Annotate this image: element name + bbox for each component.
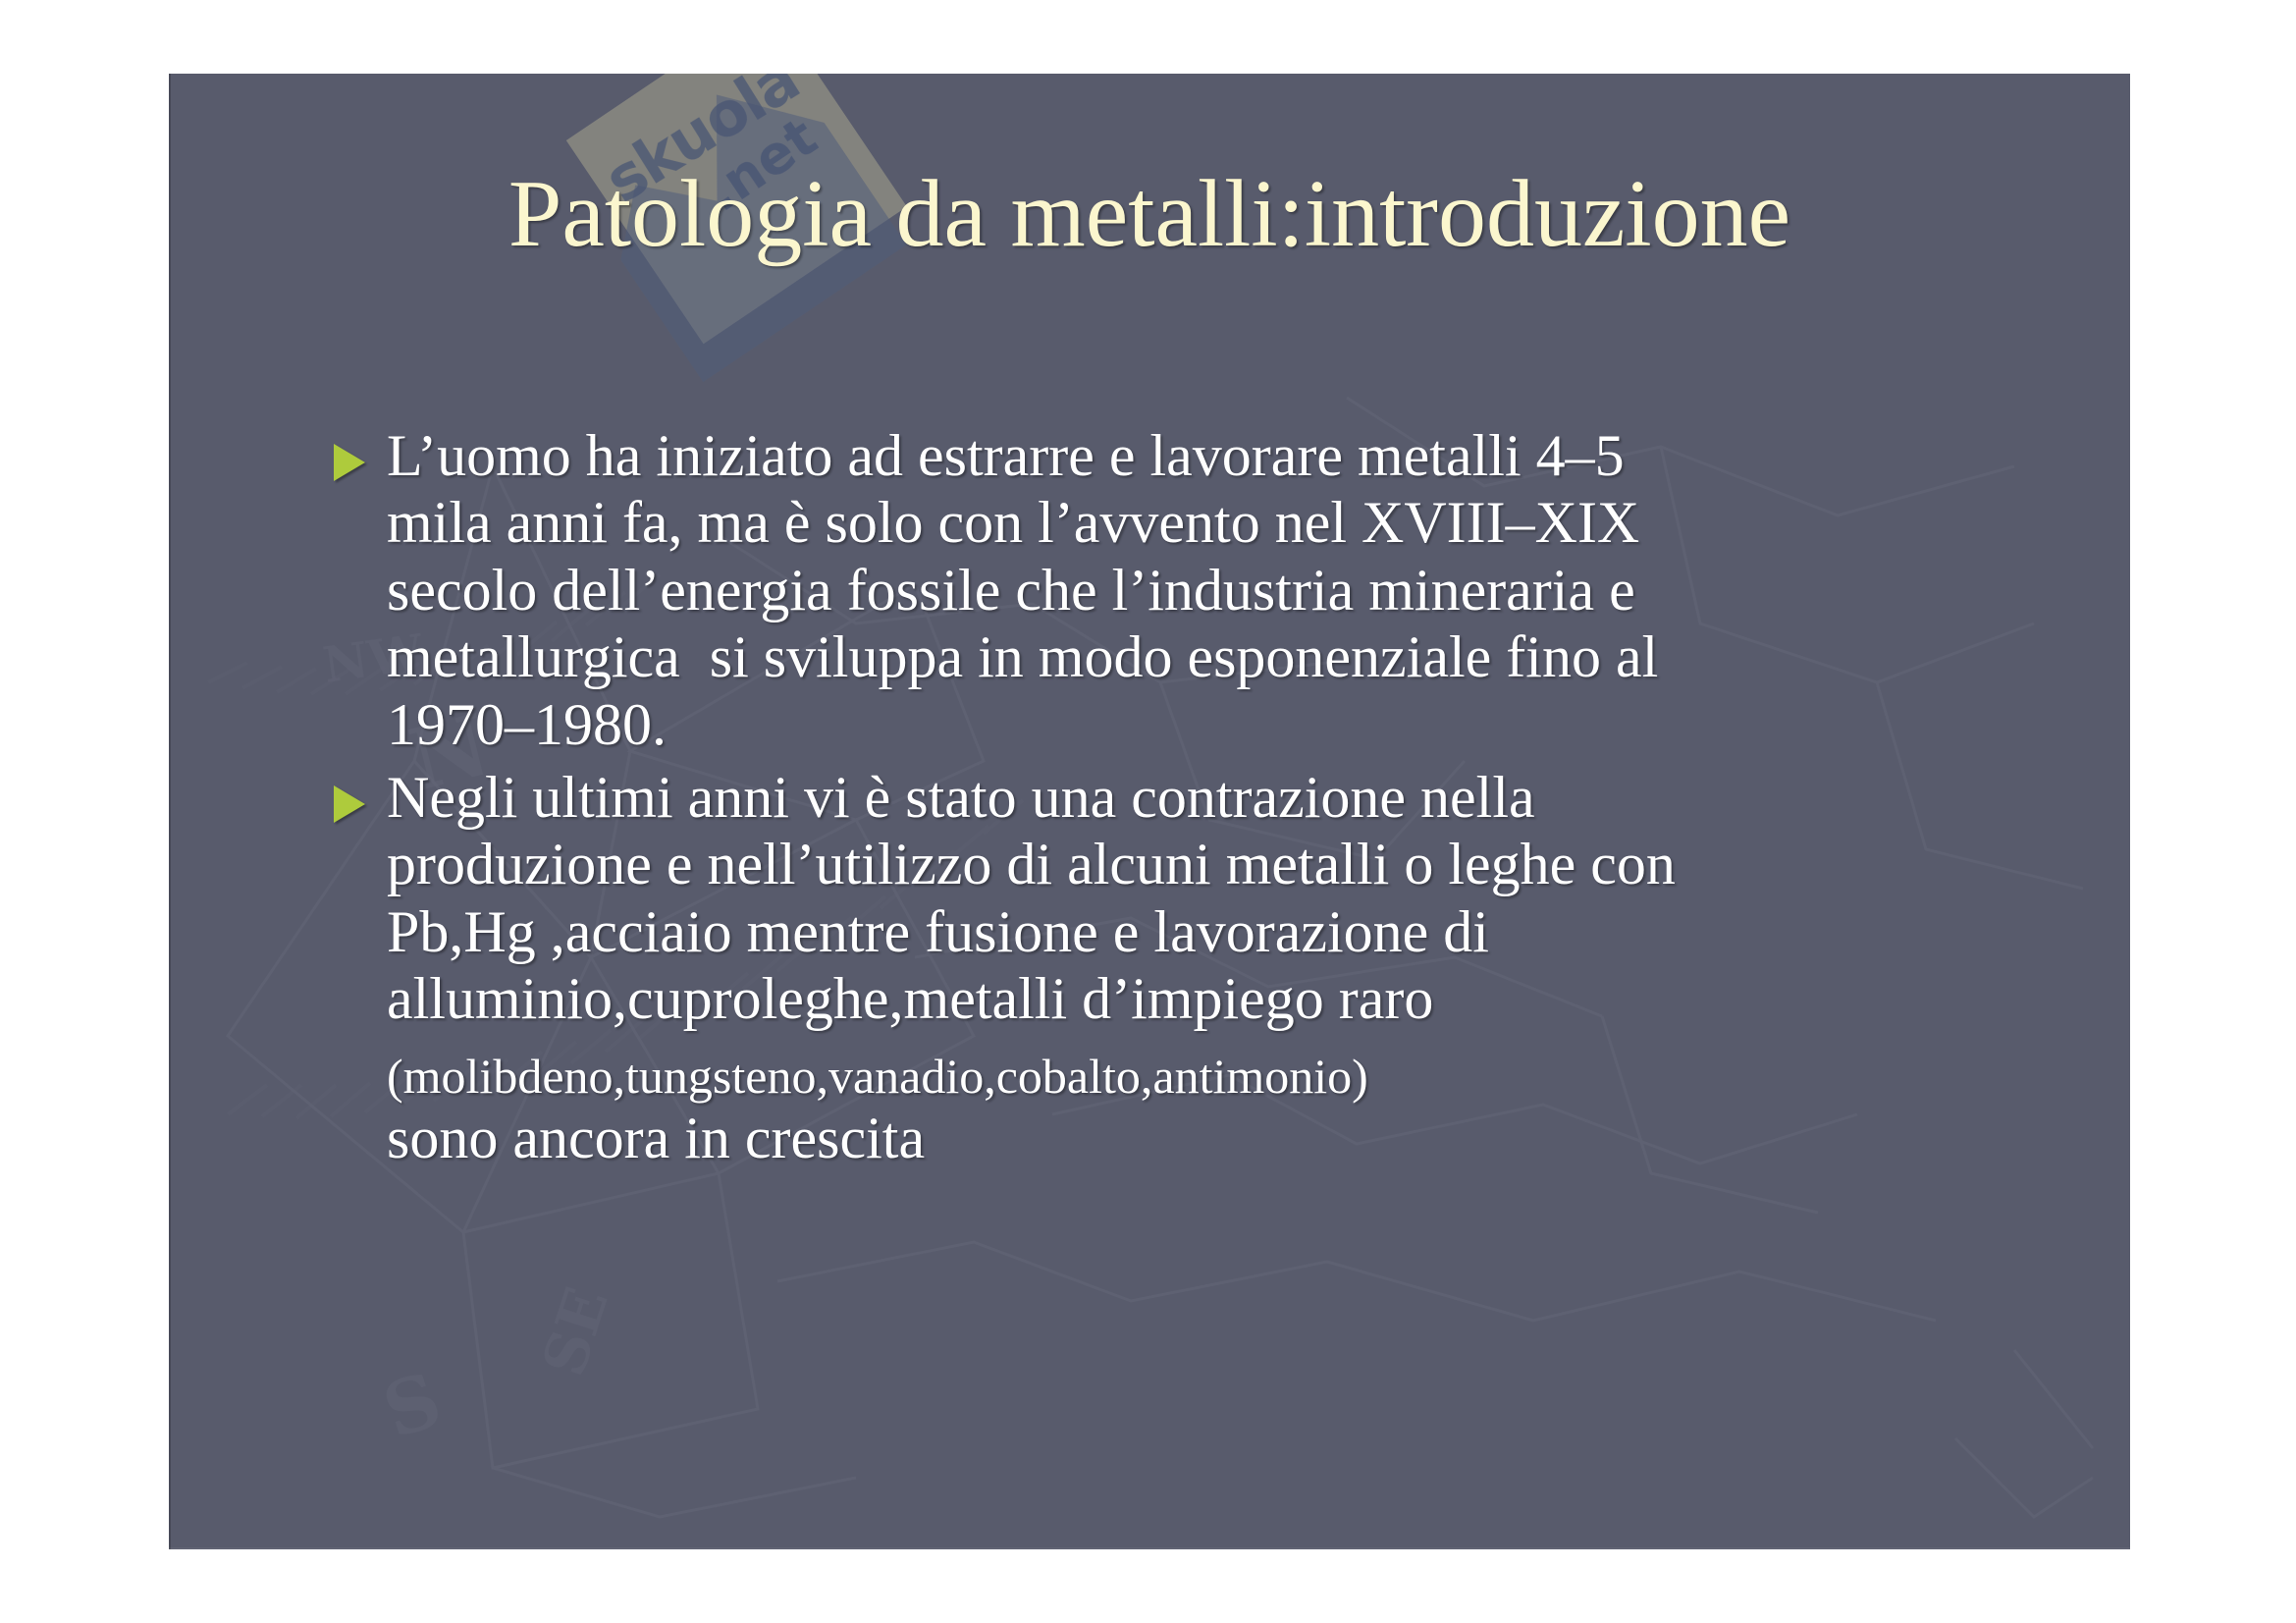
svg-text:SE: SE [530,1279,622,1383]
bullet-line: mila anni fa, ma è solo con l’avvento ne… [387,489,2101,556]
bullet-text: L’uomo ha iniziato ad estrarre e lavorar… [387,422,2101,758]
bullet-triangle-icon [334,422,387,481]
slide-title: Patologia da metalli:introduzione [169,164,2130,265]
bullet-item: Negli ultimi anni vi è stato una contraz… [334,764,2101,1171]
bullet-line: 1970–1980. [387,691,2101,758]
presentation-slide: S SE N NW skuola .net Patologia da metal… [169,74,2130,1549]
bullet-item: L’uomo ha iniziato ad estrarre e lavorar… [334,422,2101,758]
bullet-line: sono ancora in crescita [387,1105,2101,1171]
bullet-triangle-icon [334,764,387,823]
bullet-line: L’uomo ha iniziato ad estrarre e lavorar… [387,422,2101,489]
bullet-line: secolo dell’energia fossile che l’indust… [387,557,2101,623]
bullet-line: alluminio,cuproleghe,metalli d’impiego r… [387,965,2101,1032]
slide-body: L’uomo ha iniziato ad estrarre e lavorar… [334,422,2101,1177]
bullet-line: (molibdeno,tungsteno,vanadio,cobalto,ant… [387,1033,2101,1105]
bullet-line: produzione e nell’utilizzo di alcuni met… [387,831,2101,897]
bullet-line: Pb,Hg ,acciaio mentre fusione e lavorazi… [387,898,2101,965]
bullet-line: Negli ultimi anni vi è stato una contraz… [387,764,2101,831]
bullet-line: metallurgica si sviluppa in modo esponen… [387,623,2101,690]
bullet-text: Negli ultimi anni vi è stato una contraz… [387,764,2101,1171]
svg-text:S: S [373,1356,452,1456]
